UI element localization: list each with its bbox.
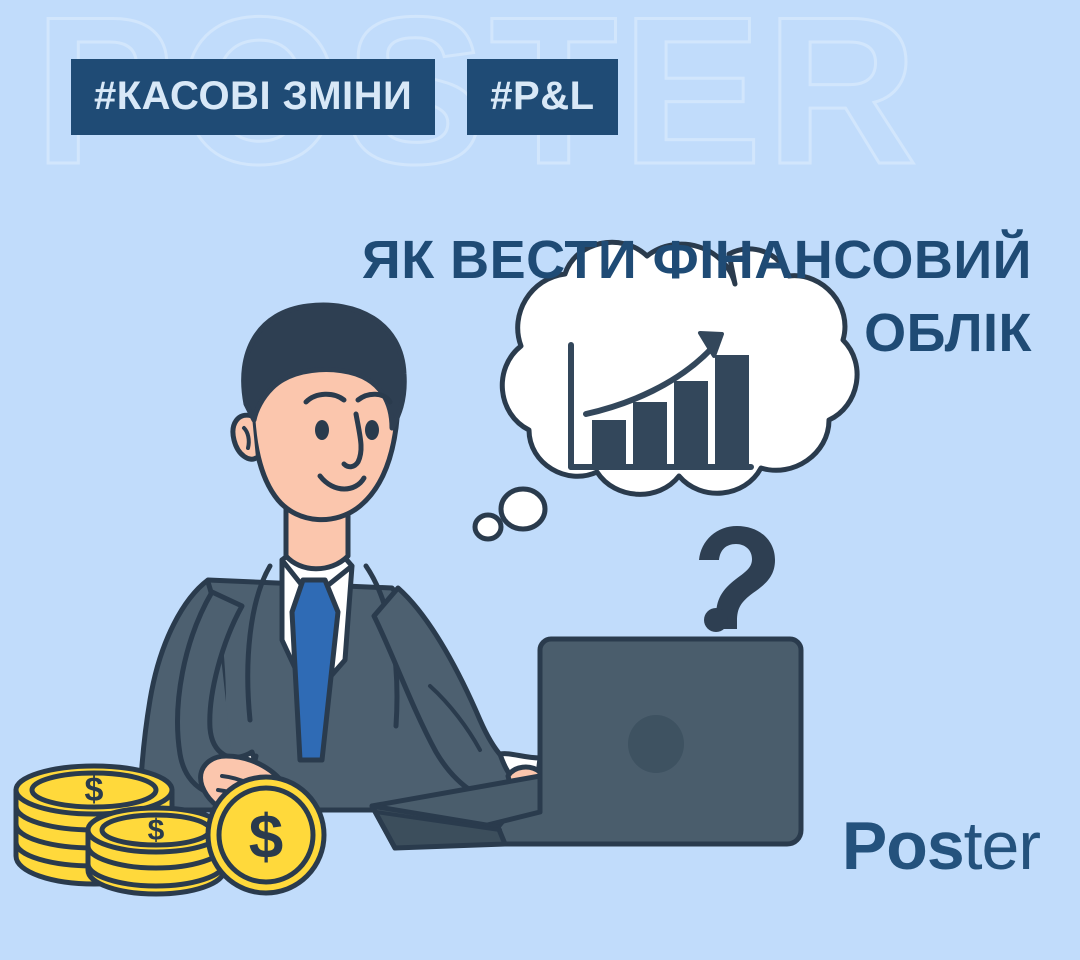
thought-bubble-small-1	[501, 489, 545, 529]
chart-bar-2	[633, 402, 667, 467]
hashtag-chip-row: #КАСОВІ ЗМІНИ #P&L	[71, 59, 618, 135]
coin-dollar-sign-large: $	[249, 803, 283, 872]
poster-logo[interactable]: Poster	[842, 812, 1040, 880]
eye-left	[315, 420, 329, 440]
page-title: ЯК ВЕСТИ ФІНАНСОВИЙ ОБЛІК	[272, 224, 1032, 369]
held-coin: $	[208, 777, 324, 893]
chart-bar-3	[674, 381, 708, 467]
poster-canvas: POSTER	[0, 0, 1080, 960]
laptop-logo	[628, 715, 684, 773]
short-coin-stack: $	[88, 808, 224, 894]
coin-dollar-sign-short: $	[148, 814, 165, 847]
chart-bar-1	[592, 420, 626, 467]
page-title-line-1: ЯК ВЕСТИ ФІНАНСОВИЙ	[272, 224, 1032, 296]
page-title-line-2: ОБЛІК	[272, 297, 1032, 369]
coin-dollar-sign-tall: $	[85, 771, 104, 809]
poster-logo-strong: Pos	[842, 808, 964, 884]
eye-right	[365, 420, 379, 440]
chart-bar-4	[715, 355, 749, 467]
question-mark-icon	[699, 526, 775, 632]
thought-bubble-small-2	[475, 515, 501, 539]
poster-logo-light: ter	[964, 808, 1040, 884]
hashtag-chip-pnl[interactable]: #P&L	[467, 59, 617, 135]
hashtag-chip-cash-changes[interactable]: #КАСОВІ ЗМІНИ	[71, 59, 435, 135]
